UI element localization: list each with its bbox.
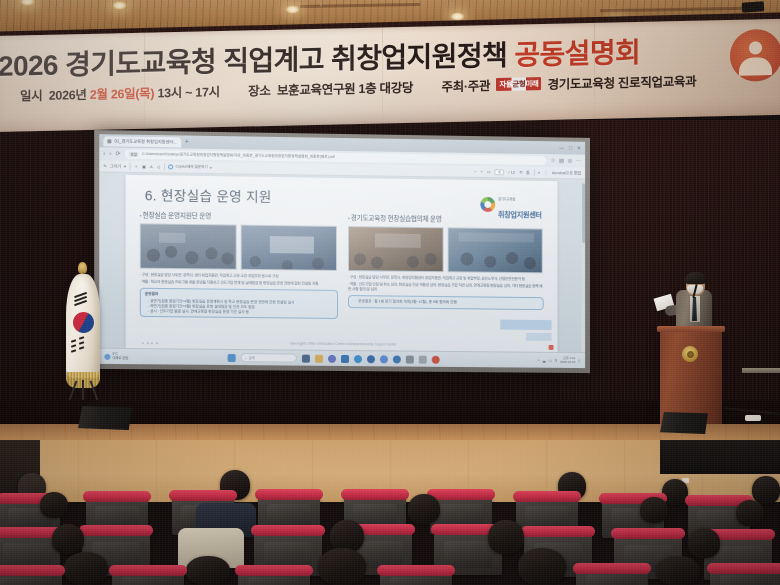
result-item: 상시 : 선도기업 발굴 실사, 연계교육형 현장실습 운영 기관 실사 등	[145, 308, 333, 315]
forward-arrow-icon[interactable]: ›	[109, 151, 111, 157]
zoom-in-icon[interactable]: +	[481, 169, 483, 174]
workshop-photo-1	[140, 223, 237, 269]
minimize-icon[interactable]: —	[559, 145, 564, 151]
notepad-icon[interactable]	[419, 355, 427, 363]
taeguk-circle	[70, 309, 97, 336]
emblem-head	[749, 41, 762, 54]
column-photos	[348, 226, 544, 273]
rotate-icon[interactable]: ⟲	[519, 170, 522, 175]
audience-head	[318, 548, 366, 585]
fit-page-icon[interactable]: ▭	[487, 169, 491, 174]
toolbar-separator	[130, 163, 131, 170]
pdf-slide-page: 6. 현장실습 운영 지원 경기도교육청 취창업지원센터 현장실습 운영지원단 …	[126, 175, 558, 352]
column-line: 역할 : 학교의 현장실습 프로그램 개발·운영을 지원하고 선도기업 연계 및…	[140, 280, 338, 287]
search-input[interactable]: ⌕ 검색	[241, 353, 297, 363]
page-marker	[549, 345, 554, 350]
notifications-icon[interactable]: ▯	[578, 359, 580, 363]
slide-decoration	[526, 333, 552, 341]
highlight-icon[interactable]: ✧	[135, 164, 138, 169]
audience-seat	[112, 572, 184, 585]
trigram-gon-f	[79, 346, 84, 349]
audience-seat	[0, 572, 62, 585]
taskbar-clock[interactable]: 오후 2:41 2026-02-26	[560, 357, 575, 364]
page-number-input[interactable]: 6	[495, 169, 505, 175]
collections-icon[interactable]: ▤	[559, 158, 564, 164]
photos-icon[interactable]	[315, 354, 323, 362]
audience-head	[736, 500, 764, 526]
banner-host-value: 경기도교육청 진로직업교육과	[548, 71, 697, 93]
column-heading: 경기도교육청 현장실습협의체 운영	[348, 212, 544, 225]
taskbar-center[interactable]: ⌕ 검색	[228, 353, 440, 364]
audience-head	[40, 492, 68, 518]
audience-seat	[576, 570, 648, 585]
committee-photo-1	[348, 226, 444, 272]
trigram-gon-c	[71, 344, 76, 347]
audience-head	[518, 548, 566, 585]
banner-date-label: 일시	[20, 85, 42, 104]
downlight	[112, 1, 127, 10]
chrome-icon[interactable]	[380, 355, 388, 363]
banner-date-year: 2026년	[49, 84, 87, 104]
windows-taskbar[interactable]: 9°C 대체로 흐림 ⌕ 검색	[99, 348, 585, 368]
column-lines: 구성 : 현장실습 담당 사무관, 장학사, 취창업지원센터 취업지원관, 직업…	[348, 275, 544, 295]
maximize-icon[interactable]: □	[569, 145, 572, 151]
pdf-scrollbar[interactable]	[581, 181, 585, 352]
clock-date: 2026-02-26	[560, 359, 575, 363]
edge-icon[interactable]	[354, 355, 362, 363]
valance-hook	[320, 2, 322, 7]
audience-seat	[238, 572, 310, 585]
pdf-page-tools[interactable]: − + ▭ 6 / 12 ⟲ ⎙ ⌕ ⋮ Acrobat으로 편집	[474, 168, 581, 177]
downlight	[285, 5, 300, 14]
copilot-icon	[168, 164, 173, 169]
text-icon[interactable]: A	[150, 164, 153, 169]
search-placeholder: 검색	[249, 355, 255, 360]
auditorium-photo: 2026 경기도교육청 직업계고 취창업지원정책 공동설명회 일시 2026년 …	[0, 0, 780, 585]
profile-icon[interactable]: ◎	[568, 158, 573, 164]
audience-head	[408, 494, 440, 524]
slide-column-left: 현장실습 운영지원단 운영	[140, 209, 338, 319]
stage-monitor-left	[78, 406, 132, 430]
audience-head	[186, 556, 230, 585]
audience-head	[52, 524, 84, 554]
trigram-gon-b	[79, 336, 84, 339]
banner-place-value: 보훈교육연구원 1층 대강당	[277, 77, 413, 99]
audience-seat	[710, 570, 780, 585]
roundtable-photo-2	[448, 227, 543, 273]
download-icon[interactable]	[406, 355, 414, 363]
acrobat-icon[interactable]	[432, 355, 440, 363]
wall-mounted-display	[660, 440, 780, 474]
page-total-label: / 12	[508, 169, 515, 174]
slide-columns: 현장실습 운영지원단 운영	[140, 209, 544, 321]
slide-title: 6. 현장실습 운영 지원	[145, 184, 272, 206]
hancom-icon[interactable]	[393, 355, 401, 363]
banner-host-label: 주최·주관	[442, 75, 491, 95]
copilot-label: Copilot에게 질문하기	[176, 164, 208, 170]
flag-cloth	[66, 274, 100, 378]
read-aloud-icon[interactable]: ◁	[157, 164, 160, 169]
word-icon[interactable]	[367, 355, 375, 363]
pdf-draw-label: 그리기	[110, 163, 121, 169]
person-emblem-icon	[730, 29, 780, 82]
stage-monitor-right	[660, 412, 708, 434]
logo-line-1: 경기도교육청	[498, 197, 515, 201]
search-icon: ⌕	[245, 356, 247, 360]
print-icon[interactable]: ⎙	[526, 170, 529, 175]
chevron-down-icon[interactable]: ▾	[124, 164, 126, 169]
result-item: 운영결과 : 월 1회 정기 협의회 개최(3월~11월), 총 9회 협의회 …	[353, 300, 539, 307]
pinwheel-logo-icon	[480, 197, 495, 212]
pdf-file-icon	[107, 139, 111, 143]
browser-right-icons[interactable]: ☆ ▤ ◎ ⋯	[551, 158, 582, 164]
valance-hook	[580, 2, 582, 7]
zoom-out-icon[interactable]: −	[474, 169, 476, 174]
reload-icon[interactable]: ⟳	[115, 151, 120, 158]
outlook-icon[interactable]	[341, 354, 349, 362]
result-box: 운영결과 : 월 1회 정기 협의회 개최(3월~11월), 총 9회 협의회 …	[348, 295, 544, 310]
back-arrow-icon[interactable]: ‹	[103, 151, 105, 157]
close-icon[interactable]: ✕	[577, 145, 581, 151]
window-buttons[interactable]: — □ ✕	[559, 145, 581, 151]
presenter-hair	[685, 272, 706, 284]
chevron-down-icon[interactable]: ▾	[210, 166, 212, 170]
podium-top-edge	[657, 326, 725, 332]
column-line: 구성 : 현장실습 담당 사무관, 장학사, 센터 취업지원관, 직업계고 교장…	[140, 273, 338, 280]
projection-screen-frame: 01_경기도교육청 취창업지원센터… + — □ ✕ ‹ › ⟳ 파일 C:/U…	[94, 130, 590, 373]
slide-footer: Gyeonggido Office of Education Center of…	[126, 340, 558, 348]
chevron-up-icon[interactable]: ˄	[538, 358, 540, 362]
banner-date-month: 2월	[90, 84, 108, 103]
side-table	[742, 368, 780, 373]
copilot-button[interactable]: Copilot에게 질문하기 ▾	[168, 164, 211, 170]
valance-hook	[450, 2, 452, 7]
more-icon[interactable]: ⋮	[544, 170, 548, 175]
banner-place-label: 장소	[248, 80, 270, 99]
star-icon[interactable]: ☆	[551, 158, 556, 164]
audience-head	[640, 497, 668, 523]
audience-head	[688, 528, 720, 558]
seminar-photo-2	[241, 225, 337, 271]
teams-icon[interactable]	[328, 354, 336, 362]
url-text: C:/Users/user/Desktop/경기도교육청취창업지원정책설명회/자…	[142, 152, 335, 160]
banner-title-accent: 공동설명회	[514, 37, 640, 71]
new-tab-button[interactable]: +	[185, 139, 189, 146]
column-line: 구성 : 현장실습 담당 사무관, 장학사, 취창업지원센터 취업지원관, 직업…	[348, 275, 544, 282]
gold-seal-emblem	[682, 346, 698, 362]
audience-head	[656, 556, 700, 585]
column-photos	[140, 223, 338, 271]
emblem-body	[739, 57, 772, 76]
ceiling-projector	[742, 1, 765, 13]
valance-hook	[60, 2, 62, 7]
audience-head	[488, 520, 524, 554]
erase-icon[interactable]: ▣	[142, 164, 146, 169]
browser-tab-title: 01_경기도교육청 취창업지원센터…	[114, 138, 177, 145]
result-box: 운영결과 상반기(집중 점검기간=4월) 현장실습 운영계획서 및 학교 현장실…	[140, 288, 338, 319]
event-banner: 2026 경기도교육청 직업계고 취창업지원정책 공동설명회 일시 2026년 …	[0, 19, 780, 132]
audience-head	[64, 552, 108, 585]
pen-icon[interactable]: ✎	[103, 163, 106, 168]
acrobat-edit-label[interactable]: Acrobat으로 편집	[552, 170, 581, 176]
slide-decoration	[500, 320, 551, 330]
toolbar-separator	[164, 163, 165, 170]
column-heading: 현장실습 운영지원단 운영	[140, 209, 338, 222]
column-lines: 구성 : 현장실습 담당 사무관, 장학사, 센터 취업지원관, 직업계고 교장…	[140, 273, 338, 288]
valance-hook	[190, 2, 192, 7]
file-explorer-icon[interactable]	[302, 354, 310, 362]
trigram-gon-e	[71, 349, 76, 352]
column-line: 역할 : 선도기업 인정 및 취소 심의, 현장실습 전공 적합성 심의, 현장…	[348, 283, 544, 295]
audience-head	[330, 520, 364, 552]
audience-head	[752, 476, 780, 504]
korean-national-flag	[52, 262, 116, 422]
pdf-tool-draw[interactable]: ✎ 그리기 ▾	[103, 163, 126, 169]
banner-date-day: 26일(목)	[111, 83, 154, 103]
slide-column-right: 경기도교육청 현장실습협의체 운영	[348, 212, 544, 321]
start-icon[interactable]	[228, 353, 236, 361]
search-icon[interactable]: ⌕	[538, 170, 540, 175]
ime-icon[interactable]: 가	[554, 358, 557, 363]
projection-screen: 01_경기도교육청 취창업지원센터… + — □ ✕ ‹ › ⟳ 파일 C:/U…	[99, 134, 585, 368]
trigram-gon-d	[79, 341, 84, 344]
host-logo-chip: 자율균형미래	[496, 77, 541, 91]
power-strip	[745, 415, 761, 421]
volume-icon[interactable]: ◁	[549, 358, 552, 362]
trigram-gon-a	[71, 339, 76, 342]
settings-icon[interactable]: ⋯	[576, 158, 581, 164]
taskbar-tray[interactable]: ˄ ◛ ◁ 가 오후 2:41 2026-02-26 ▯	[538, 357, 581, 364]
browser-tab[interactable]: 01_경기도교육청 취창업지원센터…	[103, 136, 181, 147]
network-icon[interactable]: ◛	[542, 358, 545, 362]
url-scheme-chip: 파일	[129, 152, 139, 157]
audience-seat	[380, 572, 452, 585]
banner-date-time: 13시 ~ 17시	[157, 81, 219, 101]
